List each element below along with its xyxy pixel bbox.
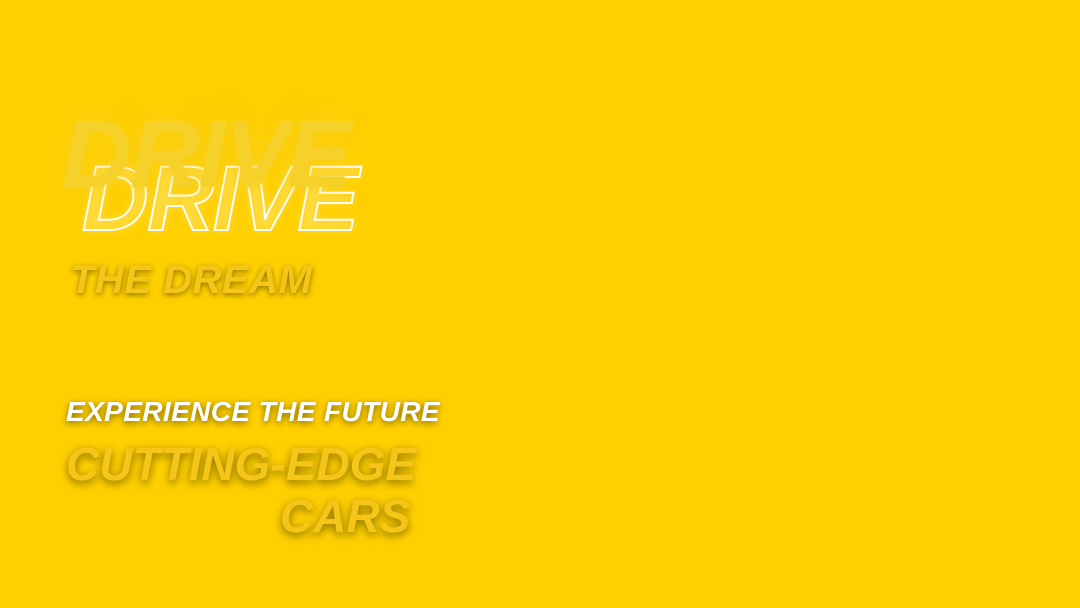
page-title: DRIVE	[62, 112, 350, 198]
rear-wheel	[850, 442, 931, 557]
title-group: DRIVE DRIVE	[62, 112, 422, 262]
headlight-right	[975, 422, 1022, 465]
driver	[446, 336, 462, 356]
windshield	[488, 266, 703, 376]
text-block: DRIVE DRIVE THE DREAM EXPERIENCE THE FUT…	[0, 0, 430, 608]
promo-headline-line2: CARS	[280, 489, 410, 543]
front-wheel	[555, 416, 649, 557]
subtitle: THE DREAM	[70, 258, 312, 303]
poster-canvas: DRIVE DRIVE THE DREAM EXPERIENCE THE FUT…	[0, 0, 1080, 608]
promo-headline-line1: CUTTING-EDGE	[66, 437, 416, 491]
car-photo-frame	[428, 50, 1028, 557]
classic-car	[428, 223, 1028, 555]
car-photo	[430, 52, 1026, 555]
promo-kicker: EXPERIENCE THE FUTURE	[66, 396, 440, 428]
headlight-left	[781, 422, 828, 465]
